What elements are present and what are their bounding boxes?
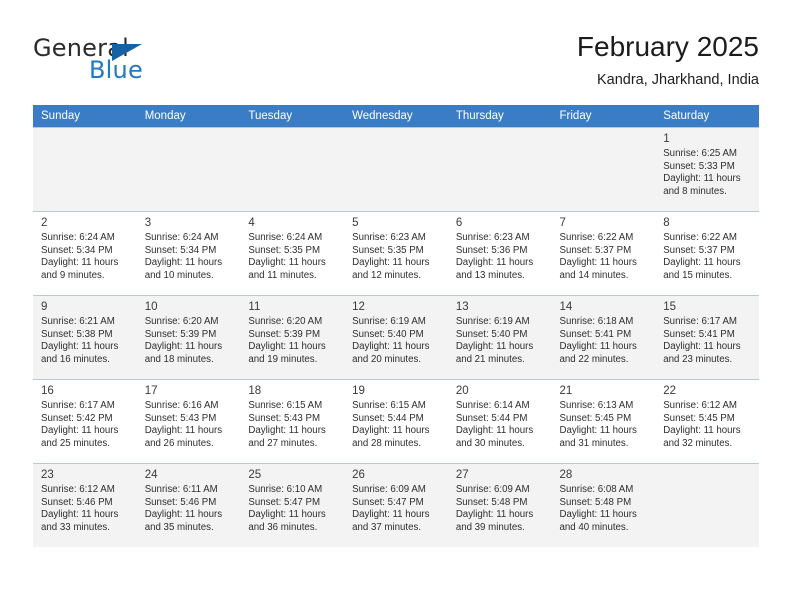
calendar-cell: 12Sunrise: 6:19 AM Sunset: 5:40 PM Dayli…	[344, 295, 448, 379]
sun-times-detail: Sunrise: 6:09 AM Sunset: 5:47 PM Dayligh…	[352, 484, 442, 534]
calendar-cell: 1Sunrise: 6:25 AM Sunset: 5:33 PM Daylig…	[655, 127, 759, 211]
sun-times-detail: Sunrise: 6:17 AM Sunset: 5:42 PM Dayligh…	[41, 400, 131, 450]
sun-times-detail: Sunrise: 6:20 AM Sunset: 5:39 PM Dayligh…	[145, 316, 235, 366]
day-number: 20	[456, 384, 546, 398]
sun-times-detail: Sunrise: 6:08 AM Sunset: 5:48 PM Dayligh…	[560, 484, 650, 534]
calendar-cell	[137, 127, 241, 211]
brand-logo[interactable]: General Blue	[33, 34, 273, 92]
sun-times-detail: Sunrise: 6:21 AM Sunset: 5:38 PM Dayligh…	[41, 316, 131, 366]
calendar-cell: 11Sunrise: 6:20 AM Sunset: 5:39 PM Dayli…	[240, 295, 344, 379]
day-cell[interactable]: 11Sunrise: 6:20 AM Sunset: 5:39 PM Dayli…	[240, 295, 344, 379]
day-cell[interactable]: 13Sunrise: 6:19 AM Sunset: 5:40 PM Dayli…	[448, 295, 552, 379]
day-number: 12	[352, 300, 442, 314]
weekday-header-sunday: Sunday	[33, 105, 137, 127]
calendar-cell: 20Sunrise: 6:14 AM Sunset: 5:44 PM Dayli…	[448, 379, 552, 463]
sun-times-detail: Sunrise: 6:22 AM Sunset: 5:37 PM Dayligh…	[663, 232, 753, 282]
day-number: 24	[145, 468, 235, 482]
day-number: 25	[248, 468, 338, 482]
day-number: 15	[663, 300, 753, 314]
calendar-cell	[344, 127, 448, 211]
sun-times-detail: Sunrise: 6:19 AM Sunset: 5:40 PM Dayligh…	[456, 316, 546, 366]
calendar-week-row: 23Sunrise: 6:12 AM Sunset: 5:46 PM Dayli…	[33, 463, 759, 547]
day-cell[interactable]: 8Sunrise: 6:22 AM Sunset: 5:37 PM Daylig…	[655, 211, 759, 295]
calendar-cell: 21Sunrise: 6:13 AM Sunset: 5:45 PM Dayli…	[552, 379, 656, 463]
calendar-cell	[448, 127, 552, 211]
day-cell-empty	[552, 127, 656, 211]
calendar-cell: 17Sunrise: 6:16 AM Sunset: 5:43 PM Dayli…	[137, 379, 241, 463]
calendar-cell: 13Sunrise: 6:19 AM Sunset: 5:40 PM Dayli…	[448, 295, 552, 379]
calendar-cell: 23Sunrise: 6:12 AM Sunset: 5:46 PM Dayli…	[33, 463, 137, 547]
day-cell[interactable]: 7Sunrise: 6:22 AM Sunset: 5:37 PM Daylig…	[552, 211, 656, 295]
sun-times-detail: Sunrise: 6:13 AM Sunset: 5:45 PM Dayligh…	[560, 400, 650, 450]
calendar-cell: 2Sunrise: 6:24 AM Sunset: 5:34 PM Daylig…	[33, 211, 137, 295]
calendar-cell: 28Sunrise: 6:08 AM Sunset: 5:48 PM Dayli…	[552, 463, 656, 547]
day-number: 21	[560, 384, 650, 398]
calendar-cell: 14Sunrise: 6:18 AM Sunset: 5:41 PM Dayli…	[552, 295, 656, 379]
day-number: 27	[456, 468, 546, 482]
day-cell-empty	[448, 127, 552, 211]
calendar-page: General Blue February 2025 Kandra, Jhark…	[0, 0, 792, 612]
day-number: 16	[41, 384, 131, 398]
weekday-header-monday: Monday	[137, 105, 241, 127]
calendar-cell: 19Sunrise: 6:15 AM Sunset: 5:44 PM Dayli…	[344, 379, 448, 463]
day-cell[interactable]: 22Sunrise: 6:12 AM Sunset: 5:45 PM Dayli…	[655, 379, 759, 463]
day-number: 10	[145, 300, 235, 314]
calendar-cell: 7Sunrise: 6:22 AM Sunset: 5:37 PM Daylig…	[552, 211, 656, 295]
day-number: 1	[663, 132, 753, 146]
day-number: 22	[663, 384, 753, 398]
calendar-week-row: 2Sunrise: 6:24 AM Sunset: 5:34 PM Daylig…	[33, 211, 759, 295]
brand-name-blue: Blue	[89, 56, 143, 84]
page-title: February 2025	[577, 30, 759, 64]
day-number: 18	[248, 384, 338, 398]
day-number: 8	[663, 216, 753, 230]
calendar-cell: 6Sunrise: 6:23 AM Sunset: 5:36 PM Daylig…	[448, 211, 552, 295]
weekday-header-saturday: Saturday	[655, 105, 759, 127]
day-number: 13	[456, 300, 546, 314]
calendar-week-row: 1Sunrise: 6:25 AM Sunset: 5:33 PM Daylig…	[33, 127, 759, 211]
day-cell[interactable]: 16Sunrise: 6:17 AM Sunset: 5:42 PM Dayli…	[33, 379, 137, 463]
calendar-cell	[552, 127, 656, 211]
calendar-cell	[33, 127, 137, 211]
sun-times-detail: Sunrise: 6:16 AM Sunset: 5:43 PM Dayligh…	[145, 400, 235, 450]
day-number: 23	[41, 468, 131, 482]
day-cell[interactable]: 19Sunrise: 6:15 AM Sunset: 5:44 PM Dayli…	[344, 379, 448, 463]
sun-times-detail: Sunrise: 6:23 AM Sunset: 5:35 PM Dayligh…	[352, 232, 442, 282]
calendar-cell: 4Sunrise: 6:24 AM Sunset: 5:35 PM Daylig…	[240, 211, 344, 295]
day-cell[interactable]: 5Sunrise: 6:23 AM Sunset: 5:35 PM Daylig…	[344, 211, 448, 295]
calendar-cell: 15Sunrise: 6:17 AM Sunset: 5:41 PM Dayli…	[655, 295, 759, 379]
calendar-cell: 10Sunrise: 6:20 AM Sunset: 5:39 PM Dayli…	[137, 295, 241, 379]
calendar-body: 1Sunrise: 6:25 AM Sunset: 5:33 PM Daylig…	[33, 127, 759, 547]
day-cell[interactable]: 4Sunrise: 6:24 AM Sunset: 5:35 PM Daylig…	[240, 211, 344, 295]
day-cell[interactable]: 21Sunrise: 6:13 AM Sunset: 5:45 PM Dayli…	[552, 379, 656, 463]
day-cell[interactable]: 6Sunrise: 6:23 AM Sunset: 5:36 PM Daylig…	[448, 211, 552, 295]
day-cell[interactable]: 17Sunrise: 6:16 AM Sunset: 5:43 PM Dayli…	[137, 379, 241, 463]
day-number: 9	[41, 300, 131, 314]
day-cell[interactable]: 24Sunrise: 6:11 AM Sunset: 5:46 PM Dayli…	[137, 463, 241, 547]
day-cell[interactable]: 23Sunrise: 6:12 AM Sunset: 5:46 PM Dayli…	[33, 463, 137, 547]
sun-times-detail: Sunrise: 6:18 AM Sunset: 5:41 PM Dayligh…	[560, 316, 650, 366]
calendar-week-row: 9Sunrise: 6:21 AM Sunset: 5:38 PM Daylig…	[33, 295, 759, 379]
day-cell[interactable]: 14Sunrise: 6:18 AM Sunset: 5:41 PM Dayli…	[552, 295, 656, 379]
sun-times-detail: Sunrise: 6:12 AM Sunset: 5:45 PM Dayligh…	[663, 400, 753, 450]
day-cell[interactable]: 10Sunrise: 6:20 AM Sunset: 5:39 PM Dayli…	[137, 295, 241, 379]
sun-times-detail: Sunrise: 6:22 AM Sunset: 5:37 PM Dayligh…	[560, 232, 650, 282]
calendar-cell: 26Sunrise: 6:09 AM Sunset: 5:47 PM Dayli…	[344, 463, 448, 547]
day-number: 5	[352, 216, 442, 230]
sun-times-detail: Sunrise: 6:12 AM Sunset: 5:46 PM Dayligh…	[41, 484, 131, 534]
day-cell[interactable]: 12Sunrise: 6:19 AM Sunset: 5:40 PM Dayli…	[344, 295, 448, 379]
day-cell[interactable]: 27Sunrise: 6:09 AM Sunset: 5:48 PM Dayli…	[448, 463, 552, 547]
sun-times-detail: Sunrise: 6:20 AM Sunset: 5:39 PM Dayligh…	[248, 316, 338, 366]
day-cell-empty	[344, 127, 448, 211]
calendar-cell: 16Sunrise: 6:17 AM Sunset: 5:42 PM Dayli…	[33, 379, 137, 463]
day-cell-empty	[137, 127, 241, 211]
calendar-week-row: 16Sunrise: 6:17 AM Sunset: 5:42 PM Dayli…	[33, 379, 759, 463]
sun-times-detail: Sunrise: 6:19 AM Sunset: 5:40 PM Dayligh…	[352, 316, 442, 366]
day-cell[interactable]: 26Sunrise: 6:09 AM Sunset: 5:47 PM Dayli…	[344, 463, 448, 547]
calendar-cell: 3Sunrise: 6:24 AM Sunset: 5:34 PM Daylig…	[137, 211, 241, 295]
calendar-cell	[240, 127, 344, 211]
sun-times-detail: Sunrise: 6:24 AM Sunset: 5:34 PM Dayligh…	[145, 232, 235, 282]
day-number: 4	[248, 216, 338, 230]
day-cell-empty	[655, 463, 759, 547]
day-number: 7	[560, 216, 650, 230]
sun-times-detail: Sunrise: 6:14 AM Sunset: 5:44 PM Dayligh…	[456, 400, 546, 450]
day-cell[interactable]: 25Sunrise: 6:10 AM Sunset: 5:47 PM Dayli…	[240, 463, 344, 547]
day-cell[interactable]: 15Sunrise: 6:17 AM Sunset: 5:41 PM Dayli…	[655, 295, 759, 379]
calendar-grid: SundayMondayTuesdayWednesdayThursdayFrid…	[33, 105, 759, 547]
day-cell[interactable]: 9Sunrise: 6:21 AM Sunset: 5:38 PM Daylig…	[33, 295, 137, 379]
calendar-header-row: SundayMondayTuesdayWednesdayThursdayFrid…	[33, 105, 759, 127]
day-number: 19	[352, 384, 442, 398]
day-cell[interactable]: 1Sunrise: 6:25 AM Sunset: 5:33 PM Daylig…	[655, 127, 759, 211]
calendar-cell: 5Sunrise: 6:23 AM Sunset: 5:35 PM Daylig…	[344, 211, 448, 295]
day-cell[interactable]: 18Sunrise: 6:15 AM Sunset: 5:43 PM Dayli…	[240, 379, 344, 463]
day-number: 6	[456, 216, 546, 230]
day-cell[interactable]: 20Sunrise: 6:14 AM Sunset: 5:44 PM Dayli…	[448, 379, 552, 463]
day-cell-empty	[33, 127, 137, 211]
title-block: February 2025 Kandra, Jharkhand, India	[577, 30, 759, 90]
calendar-cell: 22Sunrise: 6:12 AM Sunset: 5:45 PM Dayli…	[655, 379, 759, 463]
day-number: 17	[145, 384, 235, 398]
calendar-cell: 9Sunrise: 6:21 AM Sunset: 5:38 PM Daylig…	[33, 295, 137, 379]
weekday-header-tuesday: Tuesday	[240, 105, 344, 127]
sun-times-detail: Sunrise: 6:15 AM Sunset: 5:43 PM Dayligh…	[248, 400, 338, 450]
calendar-cell: 18Sunrise: 6:15 AM Sunset: 5:43 PM Dayli…	[240, 379, 344, 463]
day-number: 26	[352, 468, 442, 482]
page-header: General Blue February 2025 Kandra, Jhark…	[33, 30, 759, 100]
calendar-cell: 25Sunrise: 6:10 AM Sunset: 5:47 PM Dayli…	[240, 463, 344, 547]
calendar-cell: 24Sunrise: 6:11 AM Sunset: 5:46 PM Dayli…	[137, 463, 241, 547]
sun-times-detail: Sunrise: 6:17 AM Sunset: 5:41 PM Dayligh…	[663, 316, 753, 366]
sun-times-detail: Sunrise: 6:24 AM Sunset: 5:34 PM Dayligh…	[41, 232, 131, 282]
weekday-header-thursday: Thursday	[448, 105, 552, 127]
sun-times-detail: Sunrise: 6:23 AM Sunset: 5:36 PM Dayligh…	[456, 232, 546, 282]
day-number: 28	[560, 468, 650, 482]
sun-times-detail: Sunrise: 6:10 AM Sunset: 5:47 PM Dayligh…	[248, 484, 338, 534]
day-cell[interactable]: 28Sunrise: 6:08 AM Sunset: 5:48 PM Dayli…	[552, 463, 656, 547]
day-number: 3	[145, 216, 235, 230]
sun-times-detail: Sunrise: 6:15 AM Sunset: 5:44 PM Dayligh…	[352, 400, 442, 450]
day-number: 14	[560, 300, 650, 314]
weekday-headers: SundayMondayTuesdayWednesdayThursdayFrid…	[33, 105, 759, 127]
sun-times-detail: Sunrise: 6:11 AM Sunset: 5:46 PM Dayligh…	[145, 484, 235, 534]
calendar-cell: 8Sunrise: 6:22 AM Sunset: 5:37 PM Daylig…	[655, 211, 759, 295]
day-cell[interactable]: 2Sunrise: 6:24 AM Sunset: 5:34 PM Daylig…	[33, 211, 137, 295]
day-number: 2	[41, 216, 131, 230]
sun-times-detail: Sunrise: 6:09 AM Sunset: 5:48 PM Dayligh…	[456, 484, 546, 534]
weekday-header-wednesday: Wednesday	[344, 105, 448, 127]
calendar-cell: 27Sunrise: 6:09 AM Sunset: 5:48 PM Dayli…	[448, 463, 552, 547]
calendar-cell	[655, 463, 759, 547]
day-cell-empty	[240, 127, 344, 211]
weekday-header-friday: Friday	[552, 105, 656, 127]
day-cell[interactable]: 3Sunrise: 6:24 AM Sunset: 5:34 PM Daylig…	[137, 211, 241, 295]
sun-times-detail: Sunrise: 6:25 AM Sunset: 5:33 PM Dayligh…	[663, 148, 753, 198]
sun-times-detail: Sunrise: 6:24 AM Sunset: 5:35 PM Dayligh…	[248, 232, 338, 282]
day-number: 11	[248, 300, 338, 314]
location-subtitle: Kandra, Jharkhand, India	[577, 70, 759, 90]
